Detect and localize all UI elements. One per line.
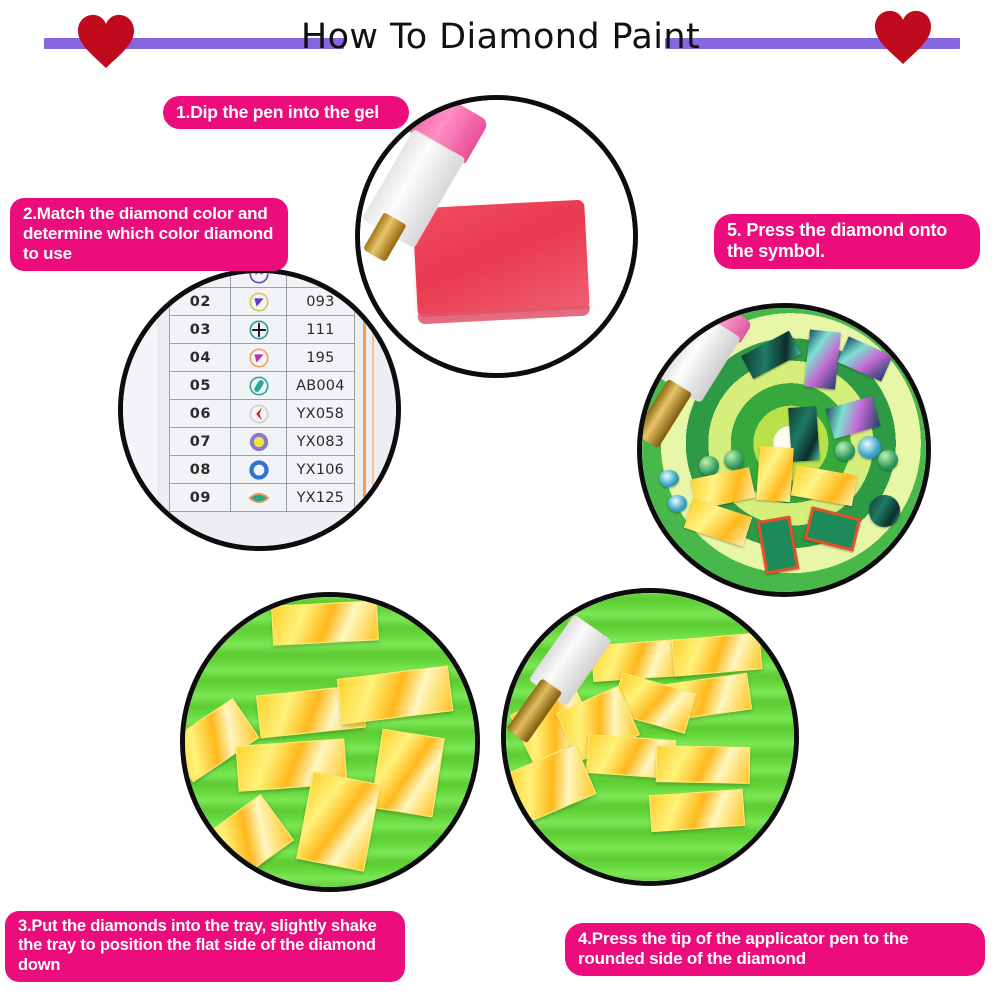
filled-dot-in-circle-icon (231, 428, 286, 456)
arrow-in-circle-icon (231, 400, 286, 428)
table-row: 05 AB004 (170, 372, 355, 400)
photo-inner (360, 100, 633, 373)
pen-tip (642, 378, 693, 448)
chart-row-number: 05 (170, 372, 231, 400)
photo-inner (506, 593, 794, 881)
photo-color-chart: 02002 09303 11104 19505 AB00406 YX05807 … (118, 268, 401, 551)
gem-green (724, 450, 744, 470)
chart-row-number: 09 (170, 484, 231, 512)
chart-row-number: 03 (170, 316, 231, 344)
chart-row-code: 195 (286, 344, 354, 372)
triangle-in-circle-icon (231, 344, 286, 372)
step-3-label: 3.Put the diamonds into the tray, slight… (5, 911, 405, 982)
gem-green (699, 456, 719, 476)
photo-diamond-onto-symbol (637, 303, 931, 597)
chart-row-code: 020 (286, 273, 354, 288)
chart-row-number: 08 (170, 456, 231, 484)
circle-two-dots-icon (231, 273, 286, 288)
table-row: 02 093 (170, 288, 355, 316)
chart-orange-line-secondary (372, 273, 374, 546)
chart-row-code: YX125 (286, 484, 354, 512)
chart-row-code: 111 (286, 316, 354, 344)
photo-pen-dipping-gel (355, 95, 638, 378)
leaf-shape-icon (231, 484, 286, 512)
table-row: 03 111 (170, 316, 355, 344)
table-row: 06 YX058 (170, 400, 355, 428)
photo-diamonds-in-tray (180, 592, 480, 892)
chart-row-number (170, 273, 231, 288)
chart-row-code: YX058 (286, 400, 354, 428)
page-title: How To Diamond Paint (0, 17, 1001, 57)
gem-green (878, 450, 898, 470)
gel-pad (412, 199, 589, 317)
triangle-in-circle-icon (231, 288, 286, 316)
chart-row-number: 02 (170, 288, 231, 316)
diamond-gem (649, 788, 745, 831)
step-4-label: 4.Press the tip of the applicator pen to… (565, 923, 985, 976)
plus-in-circle-icon (231, 316, 286, 344)
chart-row-number: 06 (170, 400, 231, 428)
diamond-gem (370, 729, 445, 818)
chart-orange-line (363, 273, 366, 546)
infographic-canvas: How To Diamond Paint 02002 09303 11104 1… (0, 0, 1001, 1001)
gem-dark (869, 495, 900, 526)
color-legend-body: 02002 09303 11104 19505 AB00406 YX05807 … (170, 273, 355, 512)
chart-row-code: AB004 (286, 372, 354, 400)
table-row: 09YX125 (170, 484, 355, 512)
table-row: 08YX106 (170, 456, 355, 484)
photo-inner: 02002 09303 11104 19505 AB00406 YX05807 … (123, 273, 396, 546)
table-row: 020 (170, 273, 355, 288)
gem-round (858, 436, 881, 459)
step-2-label: 2.Match the diamond color and determine … (10, 198, 288, 271)
photo-inner (185, 597, 475, 887)
gem-yellow-target (757, 446, 795, 502)
chart-row-number: 07 (170, 428, 231, 456)
table-row: 04 195 (170, 344, 355, 372)
step-1-label: 1.Dip the pen into the gel (163, 96, 409, 129)
open-ring-icon (231, 456, 286, 484)
photo-inner (642, 308, 926, 592)
diamond-gem (271, 600, 379, 645)
color-legend-table: 02002 09303 11104 19505 AB00406 YX05807 … (169, 273, 355, 512)
gem-iridescent (804, 329, 841, 389)
chart-row-code: 093 (286, 288, 354, 316)
step-5-label: 5. Press the diamond onto the symbol. (714, 214, 980, 269)
chart-row-code: YX106 (286, 456, 354, 484)
chart-row-number: 04 (170, 344, 231, 372)
chart-row-code: YX083 (286, 428, 354, 456)
gem-round (659, 470, 679, 487)
photo-pen-picking-diamond (501, 588, 799, 886)
table-row: 07 YX083 (170, 428, 355, 456)
slash-in-circle-icon (231, 372, 286, 400)
diamond-gem (655, 745, 750, 783)
